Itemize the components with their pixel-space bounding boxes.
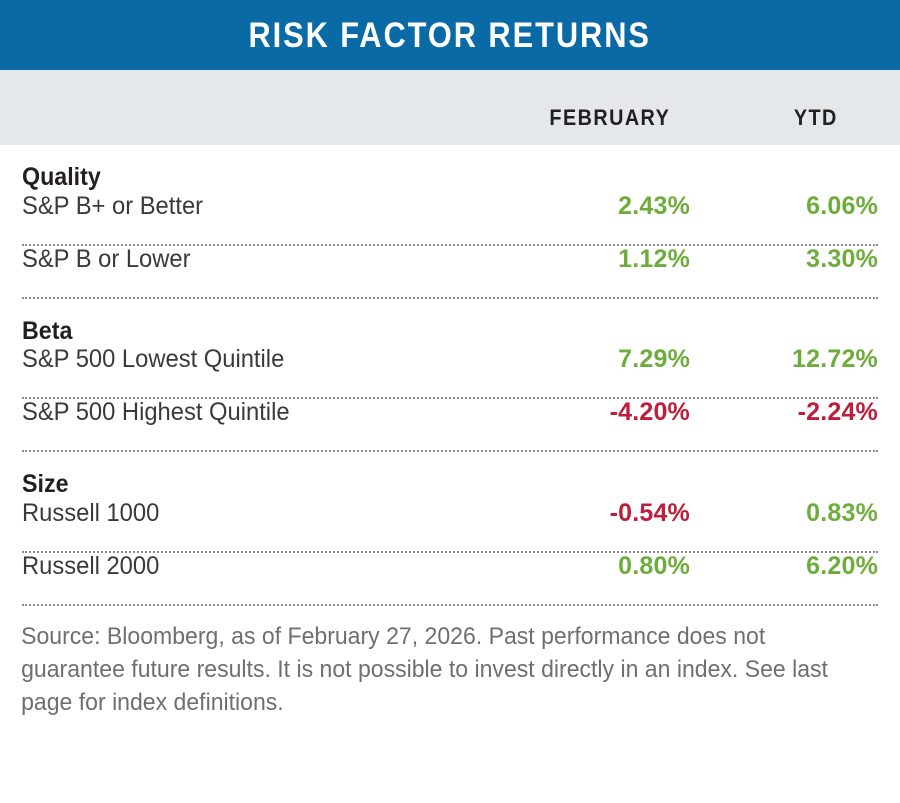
row-value-february: -0.54% [462,500,690,528]
column-header-february: FEBRUARY [549,105,670,131]
group-label-quality: Quality [22,145,818,193]
table-row: S&P 500 Highest Quintile -4.20% -2.24% [22,399,878,450]
row-value-ytd: 6.06% [690,193,878,221]
row-value-ytd: 6.20% [690,553,878,581]
column-header-ytd: YTD [794,105,838,131]
section-size: Size Russell 1000 -0.54% 0.83% Russell 2… [22,452,878,606]
page-title: RISK FACTOR RETURNS [249,18,651,53]
row-label: Russell 1000 [22,500,440,528]
row-label: S&P 500 Highest Quintile [22,399,440,427]
group-label-beta: Beta [22,299,818,347]
row-value-february: 2.43% [462,193,690,221]
row-label: S&P B+ or Better [22,193,440,221]
row-value-ytd: -2.24% [690,399,878,427]
section-quality: Quality S&P B+ or Better 2.43% 6.06% S&P… [22,145,878,299]
source-note: Source: Bloomberg, as of February 27, 20… [0,606,864,719]
section-beta: Beta S&P 500 Lowest Quintile 7.29% 12.72… [22,299,878,453]
row-value-february: 0.80% [462,553,690,581]
row-value-ytd: 3.30% [690,246,878,274]
row-value-february: 1.12% [462,246,690,274]
column-header-band: FEBRUARY YTD [0,70,900,145]
row-value-february: -4.20% [462,399,690,427]
table-body: Quality S&P B+ or Better 2.43% 6.06% S&P… [0,145,900,606]
group-label-size: Size [22,452,818,500]
table-row: Russell 1000 -0.54% 0.83% [22,500,878,551]
row-label: S&P 500 Lowest Quintile [22,346,440,374]
table-row: S&P B or Lower 1.12% 3.30% [22,246,878,297]
risk-factor-returns-card: RISK FACTOR RETURNS FEBRUARY YTD Quality… [0,0,900,803]
table-row: Russell 2000 0.80% 6.20% [22,553,878,604]
row-label: S&P B or Lower [22,246,440,274]
table-row: S&P 500 Lowest Quintile 7.29% 12.72% [22,346,878,397]
row-value-february: 7.29% [462,346,690,374]
table-row: S&P B+ or Better 2.43% 6.06% [22,193,878,244]
row-value-ytd: 0.83% [690,500,878,528]
row-value-ytd: 12.72% [690,346,878,374]
title-bar: RISK FACTOR RETURNS [0,0,900,70]
row-label: Russell 2000 [22,553,440,581]
